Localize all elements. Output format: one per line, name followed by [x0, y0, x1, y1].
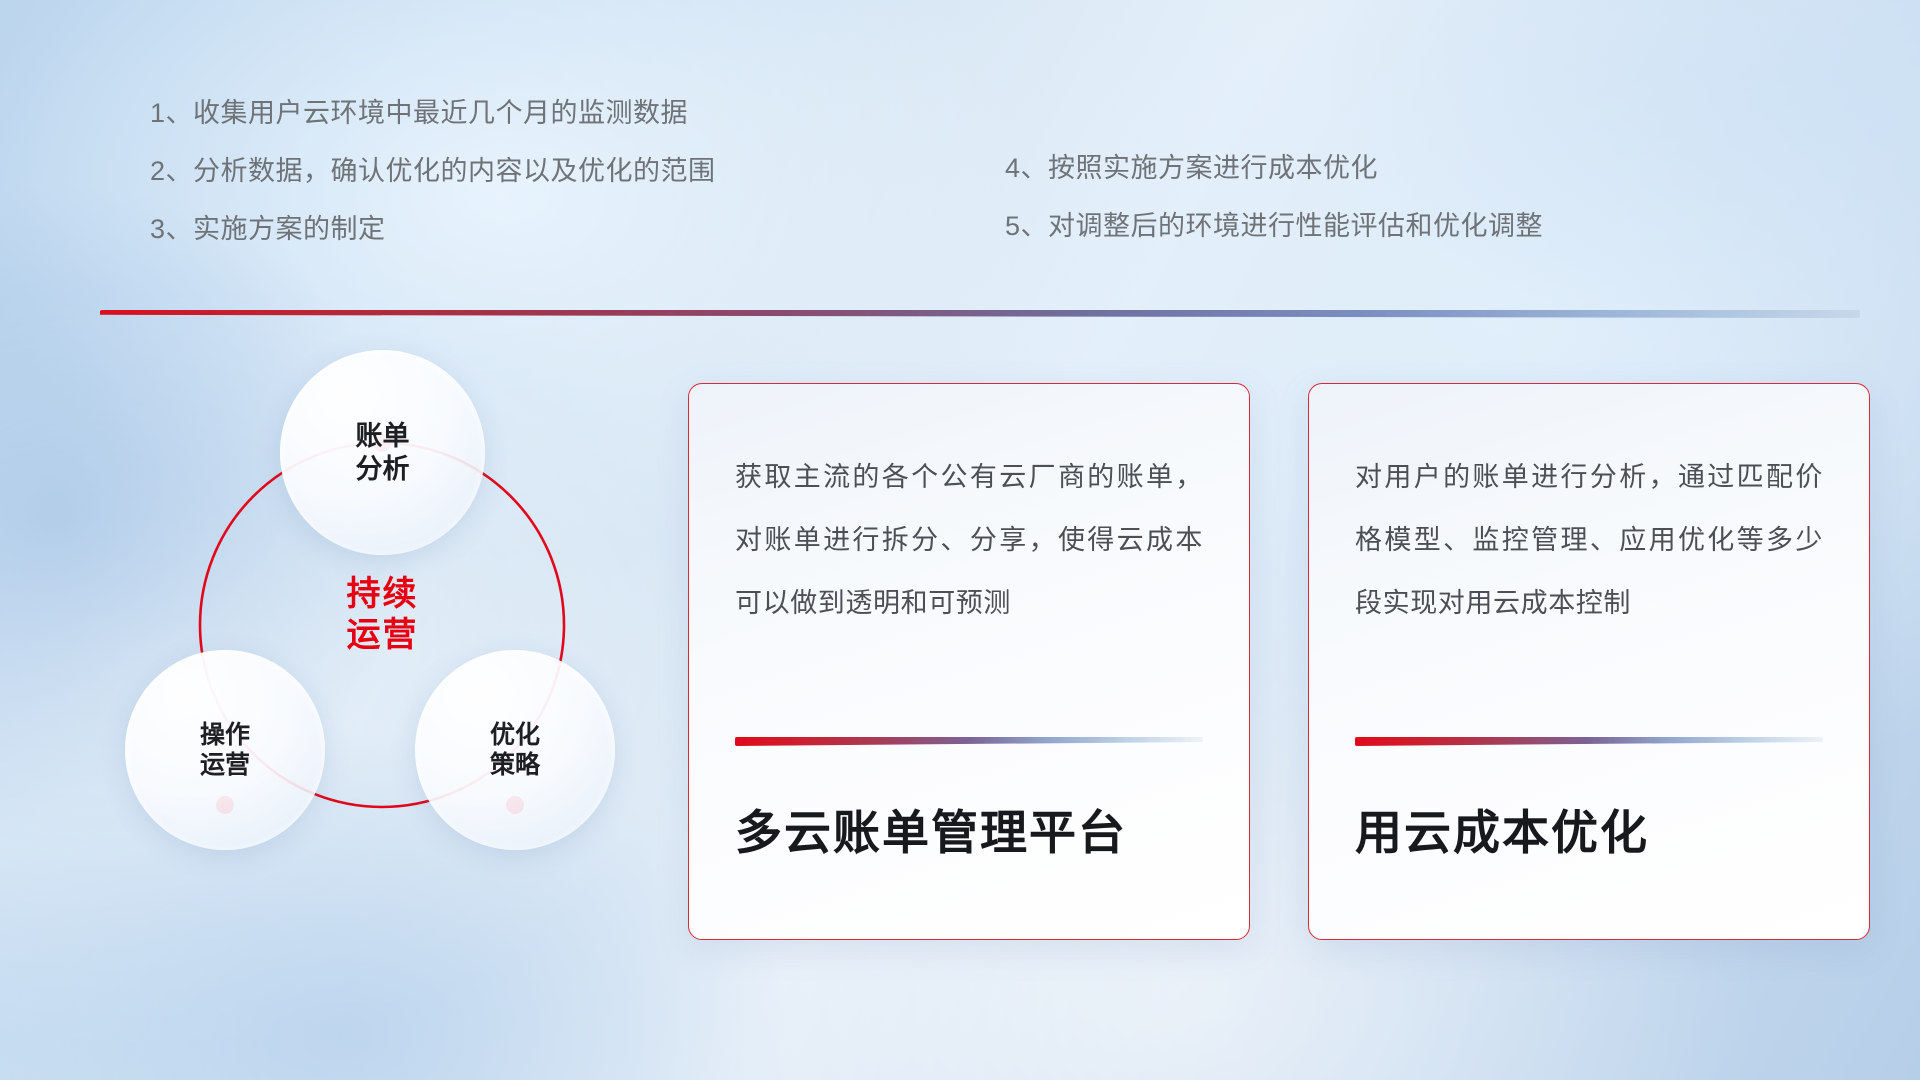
card-divider-rule: [735, 737, 1203, 746]
card-title: 用云成本优化: [1355, 794, 1823, 863]
card-divider-rule: [1355, 737, 1823, 746]
header-divider-rule: [100, 310, 1860, 318]
step-item: 1、收集用户云环境中最近几个月的监测数据: [150, 100, 716, 127]
venn-diagram: 账单分析 操作运营 优化策略 持续运营: [95, 350, 655, 940]
steps-list-left: 1、收集用户云环境中最近几个月的监测数据 2、分析数据，确认优化的内容以及优化的…: [150, 100, 716, 274]
feature-card-cloud-cost-optimization[interactable]: 对用户的账单进行分析，通过匹配价格模型、监控管理、应用优化等多少段实现对用云成本…: [1308, 383, 1870, 940]
feature-card-multicloud-billing[interactable]: 获取主流的各个公有云厂商的账单，对账单进行拆分、分享，使得云成本可以做到透明和可…: [688, 383, 1250, 940]
step-item: 4、按照实施方案进行成本优化: [1005, 155, 1543, 182]
venn-node-label: 账单分析: [356, 420, 410, 486]
step-item: 2、分析数据，确认优化的内容以及优化的范围: [150, 158, 716, 185]
venn-center-label: 持续运营: [280, 545, 485, 685]
venn-node-bill-analysis[interactable]: 账单分析: [280, 350, 485, 555]
venn-node-label: 操作运营: [200, 720, 250, 781]
steps-list-right: 4、按照实施方案进行成本优化 5、对调整后的环境进行性能评估和优化调整: [1005, 155, 1543, 271]
card-description: 获取主流的各个公有云厂商的账单，对账单进行拆分、分享，使得云成本可以做到透明和可…: [689, 384, 1249, 635]
step-item: 3、实施方案的制定: [150, 216, 716, 243]
slide-canvas: 1、收集用户云环境中最近几个月的监测数据 2、分析数据，确认优化的内容以及优化的…: [0, 0, 1920, 1080]
card-title: 多云账单管理平台: [735, 794, 1203, 863]
step-item: 5、对调整后的环境进行性能评估和优化调整: [1005, 213, 1543, 240]
card-description: 对用户的账单进行分析，通过匹配价格模型、监控管理、应用优化等多少段实现对用云成本…: [1309, 384, 1869, 635]
venn-node-label: 优化策略: [490, 720, 540, 781]
